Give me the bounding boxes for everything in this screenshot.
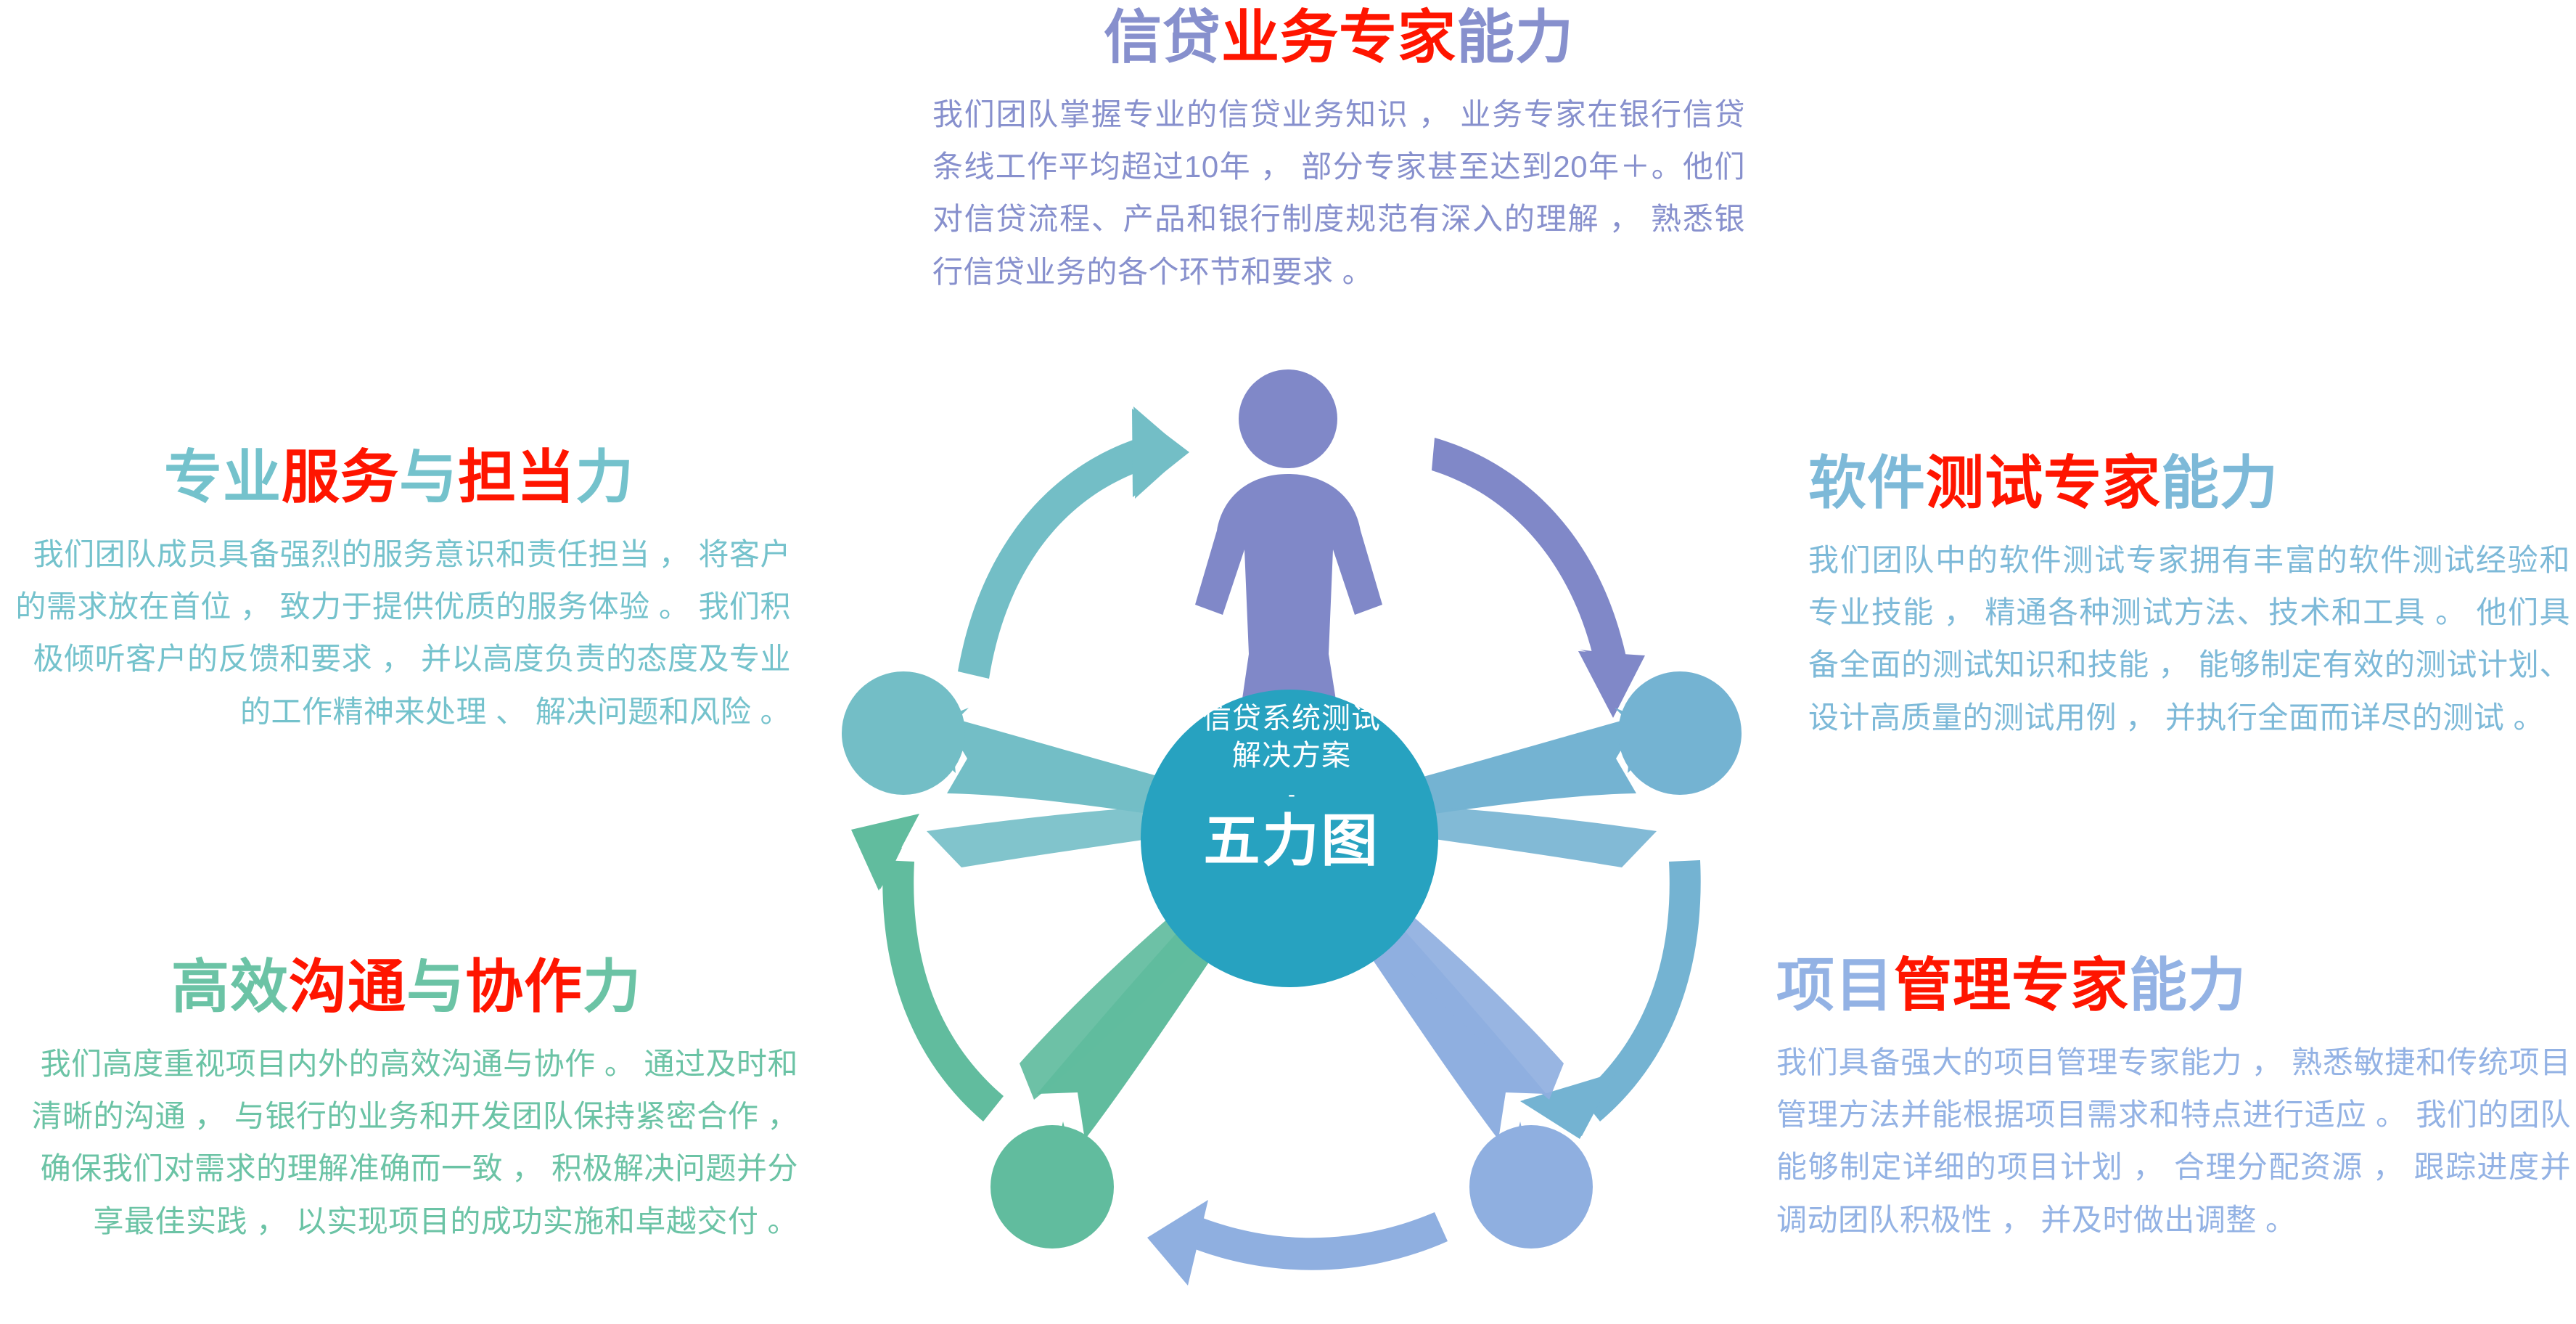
section-title-testing: 软件测试专家能力 [1808,451,2570,515]
node-bottom-left [990,1125,1114,1249]
orbit-arrow-bottom [1147,1200,1448,1286]
node-bottom-right [1469,1125,1593,1249]
section-body-testing: 我们团队中的软件测试专家拥有丰富的软件测试经验和专业技能 ， 精通各种测试方法、… [1808,534,2570,744]
title-segment-2: 能力 [2129,953,2247,1018]
section-title-credit: 信贷业务专家能力 [932,0,1745,70]
center-circle [1141,690,1438,987]
section-title-project-management: 项目管理专家能力 [1776,954,2571,1018]
title-segment-0: 信贷 [1104,5,1221,70]
title-segment-2: 能力 [2161,451,2278,515]
title-segment-1: 业务专家 [1221,5,1456,70]
title-segment-1: 管理专家 [1894,953,2129,1018]
section-body-project-management: 我们具备强大的项目管理专家能力 ， 熟悉敏捷和传统项目管理方法并能根据项目需求和… [1776,1037,2571,1246]
section-body-communication: 我们高度重视项目内外的高效沟通与协作 。 通过及时和清晰的沟通 ， 与银行的业务… [15,1038,798,1248]
title-segment-3: 担当 [458,445,575,510]
title-segment-1: 服务 [282,445,399,510]
section-project-management-expert: 项目管理专家能力 我们具备强大的项目管理专家能力 ， 熟悉敏捷和传统项目管理方法… [1776,954,2571,1246]
section-title-service: 专业服务与担当力 [7,446,791,510]
orbit-arrow-top-left [958,406,1189,679]
title-segment-2: 与 [406,955,465,1019]
title-segment-3: 协作 [465,955,583,1019]
title-segment-0: 项目 [1776,953,1894,1018]
orbit-arrow-top-right [1432,438,1645,718]
node-right [1618,671,1742,795]
title-segment-0: 软件 [1808,451,1926,515]
title-segment-0: 专业 [164,445,282,510]
section-communication-collaboration: 高效沟通与协作力 我们高度重视项目内外的高效沟通与协作 。 通过及时和清晰的沟通… [15,955,798,1248]
title-segment-4: 力 [583,955,641,1019]
title-segment-4: 力 [575,445,634,510]
title-segment-1: 沟通 [289,955,406,1019]
section-body-service: 我们团队成员具备强烈的服务意识和责任担当 ， 将客户的需求放在首位 ， 致力于提… [7,528,791,738]
section-body-credit: 我们团队掌握专业的信贷业务知识 ， 业务专家在银行信贷条线工作平均超过10年 ，… [932,89,1745,298]
node-left [842,671,965,795]
title-segment-2: 与 [399,445,458,510]
title-segment-0: 高效 [171,955,289,1019]
section-service-responsibility: 专业服务与担当力 我们团队成员具备强烈的服务意识和责任担当 ， 将客户的需求放在… [7,446,791,738]
five-force-diagram [809,367,1774,1303]
title-segment-1: 测试专家 [1926,451,2161,515]
section-credit-business-expert: 信贷业务专家能力 我们团队掌握专业的信贷业务知识 ， 业务专家在银行信贷条线工作… [932,0,1745,298]
section-software-testing-expert: 软件测试专家能力 我们团队中的软件测试专家拥有丰富的软件测试经验和专业技能 ， … [1808,451,2570,744]
title-segment-2: 能力 [1456,5,1574,70]
section-title-communication: 高效沟通与协作力 [15,955,798,1019]
